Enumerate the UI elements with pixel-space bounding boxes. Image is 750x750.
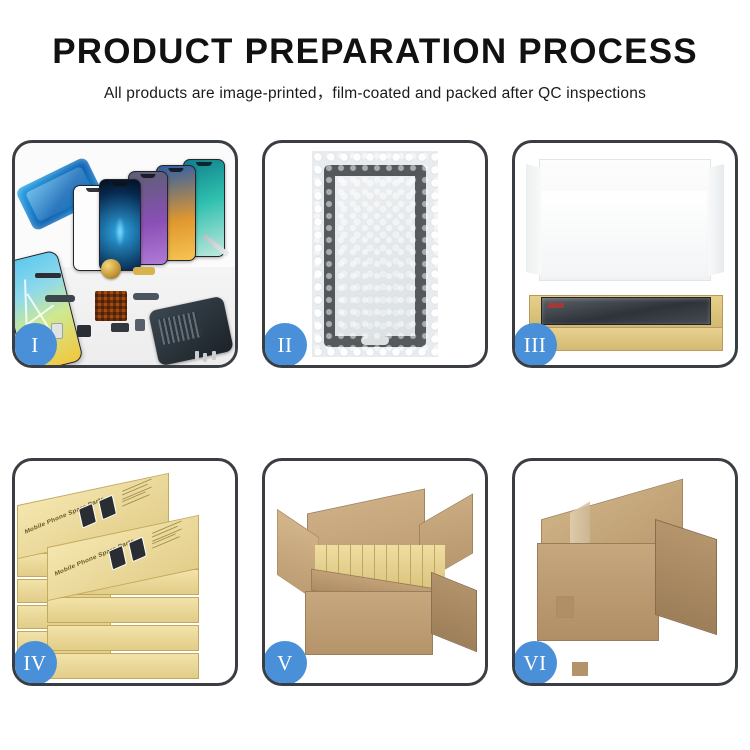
screw-icon: [212, 351, 216, 360]
flex-cable-icon: [35, 273, 61, 278]
connector-icon: [111, 323, 129, 332]
notch-icon: [112, 182, 128, 186]
notch-icon: [168, 168, 183, 172]
step-badge-5: V: [263, 641, 307, 685]
stacked-box: [47, 625, 199, 651]
notch-icon: [140, 174, 155, 178]
stacked-box: [47, 653, 199, 679]
label-spec-lines: [152, 521, 192, 552]
header: PRODUCT PREPARATION PROCESS All products…: [0, 0, 750, 103]
screw-icon: [203, 353, 207, 362]
coil-component-icon: [101, 259, 121, 279]
tape-tab-icon: [556, 596, 574, 618]
step-panel-6: VI: [512, 458, 738, 686]
tape-tab-icon: [572, 662, 588, 676]
carton-front-face: [537, 543, 659, 641]
label-phone-icon: [128, 536, 147, 562]
copper-grid-component-icon: [95, 291, 127, 321]
step-panel-5: V: [262, 458, 488, 686]
open-carton-icon: [281, 495, 471, 655]
flex-cable-icon: [133, 293, 159, 300]
step-badge-6: VI: [513, 641, 557, 685]
flex-cable-icon: [45, 295, 75, 302]
step-panel-4: Mobile Phone Spare Parts Mobile Phone Sp…: [12, 458, 238, 686]
connector-icon: [135, 319, 145, 331]
bubble-wrap-icon: [312, 151, 438, 357]
step-badge-2: II: [263, 323, 307, 367]
sealed-carton-icon: [537, 499, 717, 649]
stacked-box: [47, 597, 199, 623]
label-phone-icon: [108, 545, 127, 571]
label-phone-icon: [98, 494, 117, 520]
step-panel-3: III: [512, 140, 738, 368]
phone-blue-icon: [99, 179, 141, 271]
foam-padding-icon: [541, 191, 707, 277]
process-step-grid: I II III: [12, 140, 738, 686]
connector-icon: [77, 325, 91, 337]
step-badge-3: III: [513, 323, 557, 367]
page-subtitle: All products are image-printed，film-coat…: [0, 81, 750, 103]
label-spec-lines: [122, 479, 162, 510]
screws-group: [195, 351, 221, 363]
packed-screen-icon: [541, 297, 711, 325]
step-panel-2: II: [262, 140, 488, 368]
carton-body-side: [431, 572, 477, 653]
step-badge-4: IV: [13, 641, 57, 685]
notch-icon: [196, 162, 212, 166]
carton-body-front: [305, 591, 433, 655]
box-front-icon: [529, 327, 723, 351]
screw-icon: [195, 351, 199, 360]
page-title: PRODUCT PREPARATION PROCESS: [0, 34, 750, 71]
phone-fan-group: [73, 157, 233, 277]
step-badge-1: I: [13, 323, 57, 367]
box-stack-group: Mobile Phone Spare Parts Mobile Phone Sp…: [17, 483, 231, 673]
step-panel-1: I: [12, 140, 238, 368]
label-phone-icon: [78, 503, 97, 529]
screen-assembly-icon: [324, 165, 426, 347]
infographic-page: PRODUCT PREPARATION PROCESS All products…: [0, 0, 750, 750]
carton-side-face: [655, 519, 717, 635]
flex-cable-icon: [133, 267, 155, 275]
